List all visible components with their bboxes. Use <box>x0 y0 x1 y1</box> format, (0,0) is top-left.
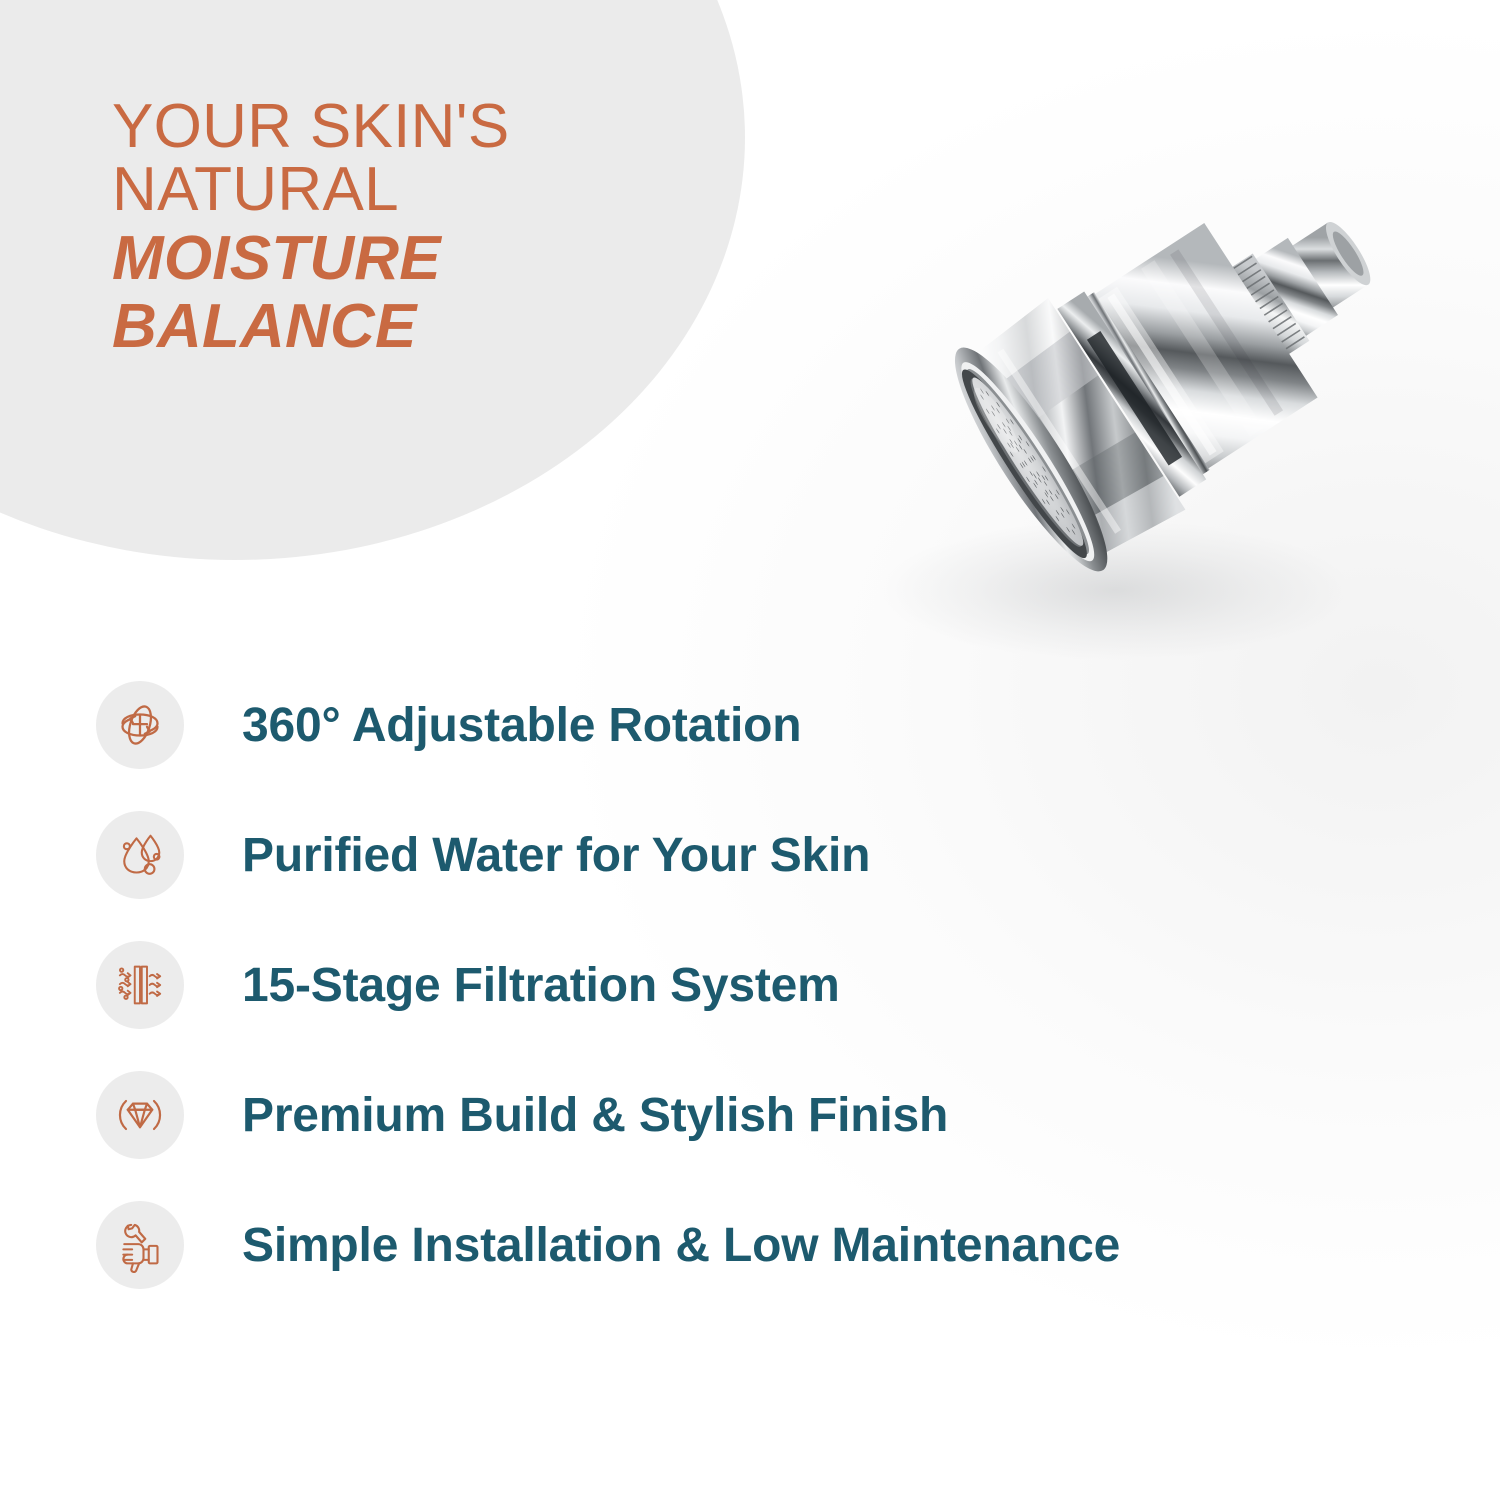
feature-label: 15-Stage Filtration System <box>242 958 840 1013</box>
feature-label: Premium Build & Stylish Finish <box>242 1088 948 1143</box>
feature-label: 360° Adjustable Rotation <box>242 698 801 753</box>
product-image <box>815 120 1435 690</box>
headline-line-2: NATURAL <box>112 158 712 221</box>
feature-item: Purified Water for Your Skin <box>96 802 1426 908</box>
infographic-canvas: YOUR SKIN'S NATURAL MOISTURE BALANCE <box>0 0 1500 1500</box>
headline-line-4: BALANCE <box>112 295 712 358</box>
feature-label: Simple Installation & Low Maintenance <box>242 1218 1120 1273</box>
feature-item: 15-Stage Filtration System <box>96 932 1426 1038</box>
feature-label: Purified Water for Your Skin <box>242 828 870 883</box>
filtration-icon <box>96 941 184 1029</box>
water-drop-icon <box>96 811 184 899</box>
feature-item: Premium Build & Stylish Finish <box>96 1062 1426 1168</box>
water-drop-glyph <box>112 827 168 883</box>
diamond-quality-glyph <box>112 1087 168 1143</box>
filtration-glyph <box>112 957 168 1013</box>
feature-item: Simple Installation & Low Maintenance <box>96 1192 1426 1298</box>
diamond-quality-icon <box>96 1071 184 1159</box>
headline-line-3: MOISTURE <box>112 227 712 290</box>
rotation-360-glyph <box>112 697 168 753</box>
hand-wrench-icon <box>96 1201 184 1289</box>
feature-item: 360° Adjustable Rotation <box>96 672 1426 778</box>
feature-list: 360° Adjustable Rotation Purified Water … <box>96 672 1426 1298</box>
rotation-360-icon <box>96 681 184 769</box>
headline-line-1: YOUR SKIN'S <box>112 95 712 158</box>
shower-head-illustration <box>815 120 1435 690</box>
hand-wrench-glyph <box>112 1217 168 1273</box>
headline: YOUR SKIN'S NATURAL MOISTURE BALANCE <box>112 95 712 358</box>
